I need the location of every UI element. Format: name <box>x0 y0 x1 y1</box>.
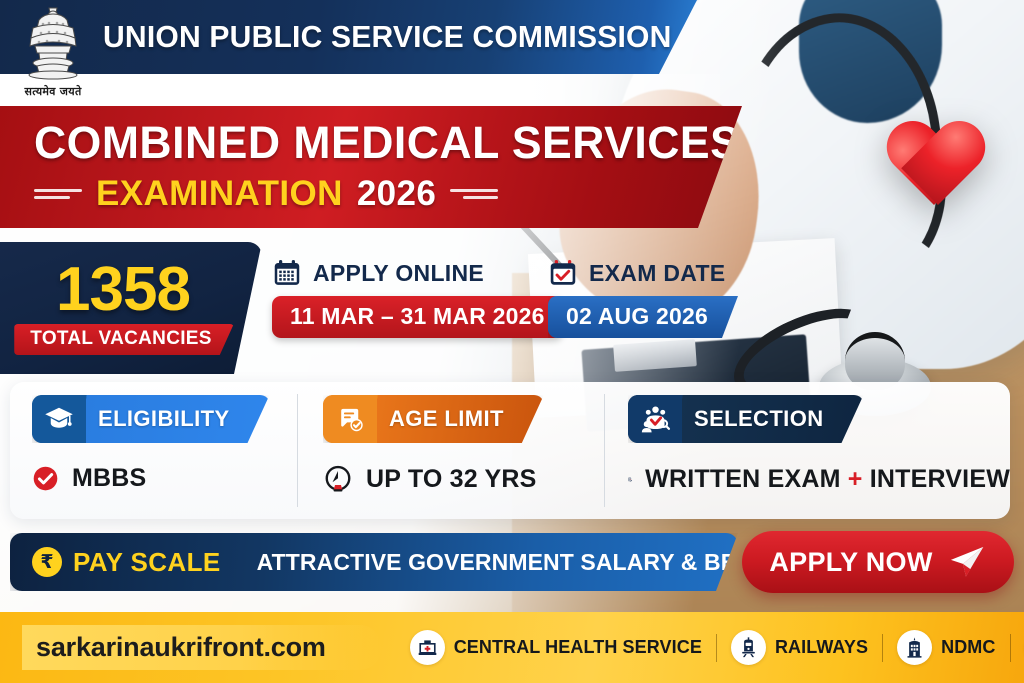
rupee-icon: ₹ <box>32 547 62 577</box>
eligibility-value: MBBS <box>72 464 146 493</box>
document-pencil-icon <box>628 464 632 495</box>
site-name-pill[interactable]: sarkarinaukrifront.com <box>22 625 382 670</box>
exam-date-header: EXAM DATE <box>548 258 738 288</box>
department-name: NDMC <box>941 637 995 658</box>
graduation-cap-icon <box>32 395 86 443</box>
exam-date-label: EXAM DATE <box>589 260 725 287</box>
vacancy-block: 1358 TOTAL VACANCIES <box>0 242 262 374</box>
selection-value: WRITTEN EXAM + INTERVIEW <box>645 465 1010 494</box>
department-name: RAILWAYS <box>775 637 868 658</box>
exam-date-value: 02 AUG 2026 <box>548 296 738 338</box>
exam-year: 2026 <box>357 174 436 214</box>
apply-now-button[interactable]: APPLY NOW <box>742 531 1014 593</box>
train-icon <box>731 630 766 665</box>
selection-value-plus: + <box>848 465 863 493</box>
site-name: sarkarinaukrifront.com <box>36 632 326 662</box>
department-item-ndmc: NDMC <box>883 630 1009 665</box>
organization-title: UNION PUBLIC SERVICE COMMISSION <box>103 19 671 55</box>
header-white-strip <box>0 74 720 108</box>
apply-online-group: APPLY ONLINE 11 MAR – 31 MAR 2026 <box>272 258 563 338</box>
selection-value-part2: INTERVIEW <box>870 465 1010 493</box>
footer-bar: sarkarinaukrifront.com CENTRAL HEALTH SE… <box>0 612 1024 683</box>
hospital-icon <box>410 630 445 665</box>
info-card: ELIGIBILITY MBBS <box>10 382 1010 519</box>
pay-scale-bar: ₹ PAY SCALE ATTRACTIVE GOVERNMENT SALARY… <box>10 533 738 591</box>
age-limit-badge-label: AGE LIMIT <box>377 406 510 432</box>
header-bar: UNION PUBLIC SERVICE COMMISSION <box>0 0 697 74</box>
pay-scale-label: PAY SCALE <box>73 547 221 578</box>
department-item-central-health-service: CENTRAL HEALTH SERVICE <box>396 630 716 665</box>
department-name: CENTRAL HEALTH SERVICE <box>454 637 702 658</box>
selection-badge-label: SELECTION <box>682 406 830 432</box>
department-list: CENTRAL HEALTH SERVICE RAILWAYS <box>396 630 1024 665</box>
exam-title-band: COMBINED MEDICAL SERVICES EXAMINATION 20… <box>0 106 742 228</box>
age-limit-value: UP TO 32 YRS <box>366 465 537 494</box>
send-plane-icon <box>947 545 987 579</box>
eligibility-badge-label: ELIGIBILITY <box>86 406 236 432</box>
people-check-icon <box>628 395 682 443</box>
check-circle-icon <box>32 465 59 492</box>
age-limit-column: AGE LIMIT UP TO 32 YRS <box>297 382 604 519</box>
exam-word: EXAMINATION <box>96 174 343 214</box>
eligibility-badge: ELIGIBILITY <box>32 395 270 443</box>
department-item-railways: RAILWAYS <box>717 630 882 665</box>
emblem-motto: सत्यमेव जयते <box>24 84 81 99</box>
selection-value-row: WRITTEN EXAM + INTERVIEW <box>628 464 1010 495</box>
exam-subtitle-row: EXAMINATION 2026 <box>34 174 742 214</box>
calendar-check-icon <box>548 258 578 288</box>
eligibility-value-row: MBBS <box>32 464 297 493</box>
apply-online-date: 11 MAR – 31 MAR 2026 <box>272 296 563 338</box>
building-icon <box>897 630 932 665</box>
exam-notification-banner: UNION PUBLIC SERVICE COMMISSION <box>0 0 1024 683</box>
apply-online-label: APPLY ONLINE <box>313 260 484 287</box>
age-limit-value-row: UP TO 32 YRS <box>323 464 604 494</box>
ashoka-emblem: सत्यमेव जयते <box>14 4 92 112</box>
alarm-clock-icon <box>323 464 353 494</box>
selection-column: SELECTION WRITTEN EXAM + INTERVIEW <box>604 382 1010 519</box>
document-check-icon <box>323 395 377 443</box>
apply-now-label: APPLY NOW <box>769 547 932 578</box>
selection-value-part1: WRITTEN EXAM <box>645 465 840 493</box>
vacancy-label: TOTAL VACANCIES <box>14 324 234 355</box>
ashoka-lion-capital-icon <box>19 4 87 88</box>
selection-badge: SELECTION <box>628 395 864 443</box>
calendar-icon <box>272 258 302 288</box>
vacancy-count: 1358 <box>56 261 190 320</box>
decor-rule-right <box>450 189 498 199</box>
apply-online-header: APPLY ONLINE <box>272 258 563 288</box>
eligibility-column: ELIGIBILITY MBBS <box>10 382 297 519</box>
exam-date-group: EXAM DATE 02 AUG 2026 <box>548 258 738 338</box>
age-limit-badge: AGE LIMIT <box>323 395 544 443</box>
exam-title: COMBINED MEDICAL SERVICES <box>34 120 735 165</box>
decor-rule-left <box>34 189 82 199</box>
department-item-mcd: MCD <box>1011 630 1024 665</box>
